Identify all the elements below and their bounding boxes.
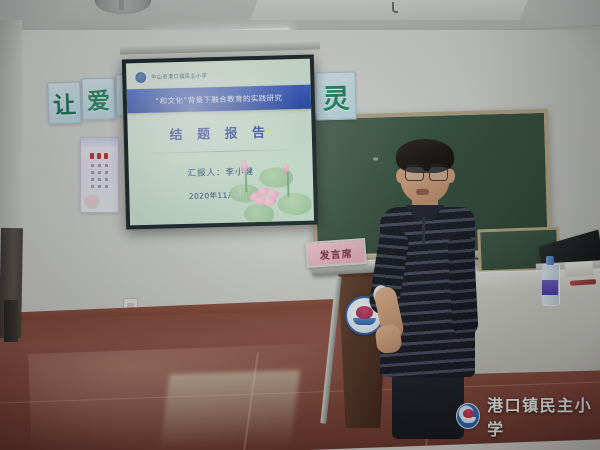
wall-character-1: 让 [52, 86, 76, 121]
poster-text-line [91, 185, 94, 188]
bottle-label [542, 280, 558, 295]
ceiling-skylight [250, 0, 531, 20]
poster-text-line [98, 164, 101, 167]
speaker-ear [396, 169, 405, 183]
left-foreground-object-base [4, 300, 18, 342]
speaker-right-arm [447, 232, 478, 337]
podium-sign-text: 发言席 [319, 244, 353, 261]
lotus-bud [240, 160, 247, 172]
photograph: 让 爱 灵 中山市港口镇民主小学 [0, 0, 600, 450]
eyeglasses-bridge [424, 171, 430, 173]
poster-header [81, 138, 118, 147]
desk-box [565, 261, 594, 276]
school-crest-icon [134, 70, 147, 83]
side-desk [469, 270, 600, 374]
slide-subtitle: 结 题 报 告 [128, 121, 312, 145]
lotus-pad [277, 193, 312, 216]
lotus-bud [283, 163, 289, 173]
poster-text-line [91, 178, 94, 181]
slide-header: 中山市港口镇民主小学 [126, 59, 311, 87]
bottle-cap [546, 256, 554, 265]
eyeglasses-icon [405, 167, 424, 181]
wall-character-card-1: 让 [47, 81, 81, 124]
slide-school-name: 中山市港口镇民主小学 [151, 71, 207, 81]
school-badge-icon [456, 403, 480, 429]
podium-sign: 发言席 [305, 238, 367, 268]
poster-accent [104, 153, 108, 159]
slide-title: “和文化”背景下融合教育的实践研究 [155, 92, 282, 106]
watermark-text: 港口镇民主小学 [487, 392, 600, 440]
poster-text-line [105, 171, 108, 174]
poster-text-line [91, 171, 94, 174]
poster-text-line [91, 164, 94, 167]
water-bottle-icon [542, 254, 558, 304]
poster-accent [97, 153, 101, 159]
lotus-pad [244, 204, 275, 225]
speaker-placket [422, 217, 425, 243]
wall-character-card-4: 灵 [315, 71, 356, 120]
lotus-flower-illustration [224, 153, 312, 225]
presentation-slide: 中山市港口镇民主小学 “和文化”背景下融合教育的实践研究 结 题 报 告 汇报人… [126, 59, 314, 226]
poster-accent [90, 153, 94, 159]
podium-leg [320, 276, 341, 424]
poster-text-line [105, 178, 108, 181]
wall-character-2: 爱 [87, 82, 111, 117]
ceiling-hook-icon [392, 2, 398, 13]
poster-text-line [98, 178, 101, 181]
poster-lotus-icon [84, 195, 100, 209]
wall-poster [80, 137, 119, 213]
lotus-petal [263, 196, 277, 206]
ceiling-fan-rod [119, 0, 124, 10]
wall-character-4: 灵 [322, 76, 350, 116]
watermark: 港口镇民主小学 [456, 392, 600, 440]
eyeglasses-icon [429, 167, 448, 181]
projection-screen: 中山市港口镇民主小学 “和文化”背景下融合教育的实践研究 结 题 报 告 汇报人… [122, 55, 318, 230]
wall-character-card-2: 爱 [81, 78, 115, 121]
poster-text-line [105, 185, 108, 188]
poster-text-line [105, 164, 108, 167]
poster-text-line [98, 171, 101, 174]
poster-text-line [98, 185, 101, 188]
speaker-hand [375, 324, 403, 354]
slide-title-band: “和文化”背景下融合教育的实践研究 [127, 85, 312, 114]
speaker-trousers [392, 369, 464, 439]
speaker-mouth [416, 189, 429, 195]
